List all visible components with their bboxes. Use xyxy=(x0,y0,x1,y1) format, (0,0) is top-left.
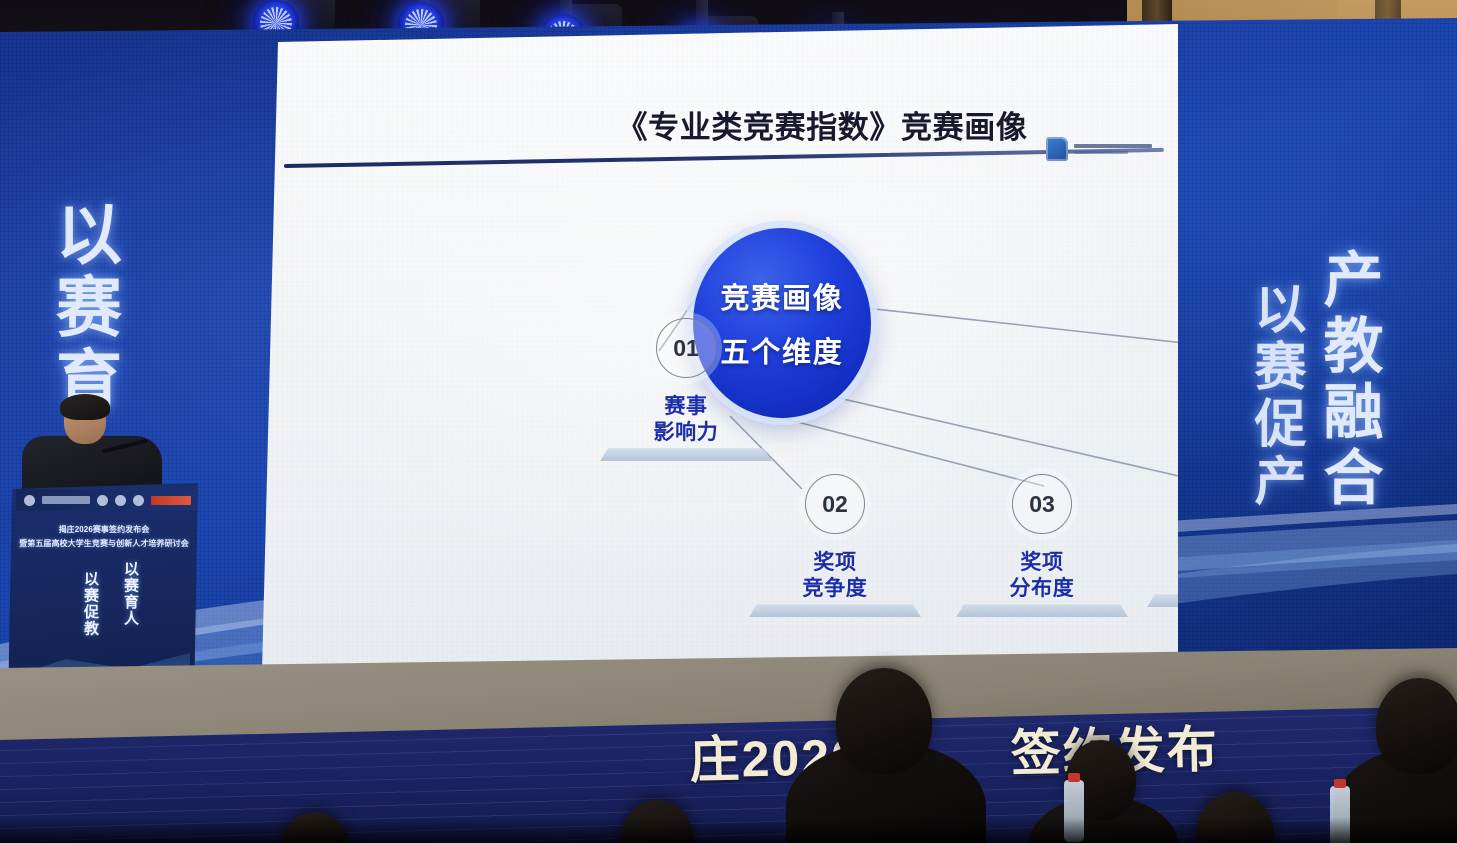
node-base-plate-01 xyxy=(600,448,772,461)
sponsor-icon-1 xyxy=(24,495,35,506)
node-number-01: 01 xyxy=(656,318,716,378)
diagram-node-03: 03 奖项分布度 xyxy=(956,474,1128,617)
node-number-02: 02 xyxy=(805,474,865,534)
diagram-node-01: 01 赛事影响力 xyxy=(600,318,772,461)
logo-wordmark xyxy=(1074,144,1152,154)
sponsor-icon-4 xyxy=(133,495,144,506)
podium-vertical-left: 以赛促教 xyxy=(80,571,101,637)
sponsor-icon-5 xyxy=(151,496,191,505)
node-label-02: 奖项竞争度 xyxy=(803,550,868,601)
sponsor-icon-3 xyxy=(115,495,126,506)
wall-banner-left: 以赛育 xyxy=(36,200,132,418)
logo-mark-icon xyxy=(1046,137,1068,161)
wall-banner-right-inner: 以赛促产 xyxy=(1238,282,1313,511)
podium-title: 揭庄2026赛事签约发布会 暨第五届高校大学生竞赛与创新人才培养研讨会 xyxy=(14,523,194,550)
projected-slide: 《专业类竞赛指数》竞赛画像 竞赛画像 五个维度 01 赛事影响力 02 xyxy=(262,24,1178,672)
wall-banner-right-outer: 产教融合 xyxy=(1305,248,1392,512)
presenter-hair xyxy=(60,394,110,420)
podium-sponsor-bar xyxy=(16,489,208,511)
node-base-plate-03 xyxy=(956,604,1128,617)
conference-photo-scene: 以赛育 产教融合 以赛促产 《专业类竞赛指数》竞赛画像 竞赛画像 五个维度 01… xyxy=(0,0,1457,843)
podium-vertical-right: 以赛育人 xyxy=(120,561,141,627)
node-base-plate-02 xyxy=(749,604,921,617)
foreground-vignette xyxy=(0,817,1457,843)
node-label-01: 赛事影响力 xyxy=(654,394,719,445)
organization-logo xyxy=(1046,134,1166,164)
sponsor-wordmark xyxy=(42,496,90,504)
hub-line-1: 竞赛画像 xyxy=(721,275,844,317)
audience-head-3 xyxy=(1376,678,1457,774)
node-number-03: 03 xyxy=(1012,474,1072,534)
audience-head-1 xyxy=(836,668,932,774)
slide-title: 《专业类竞赛指数》竞赛画像 xyxy=(562,102,1082,147)
sponsor-icon-2 xyxy=(97,495,108,506)
diagram-node-02: 02 奖项竞争度 xyxy=(749,474,921,617)
node-label-03: 奖项分布度 xyxy=(1010,550,1075,601)
